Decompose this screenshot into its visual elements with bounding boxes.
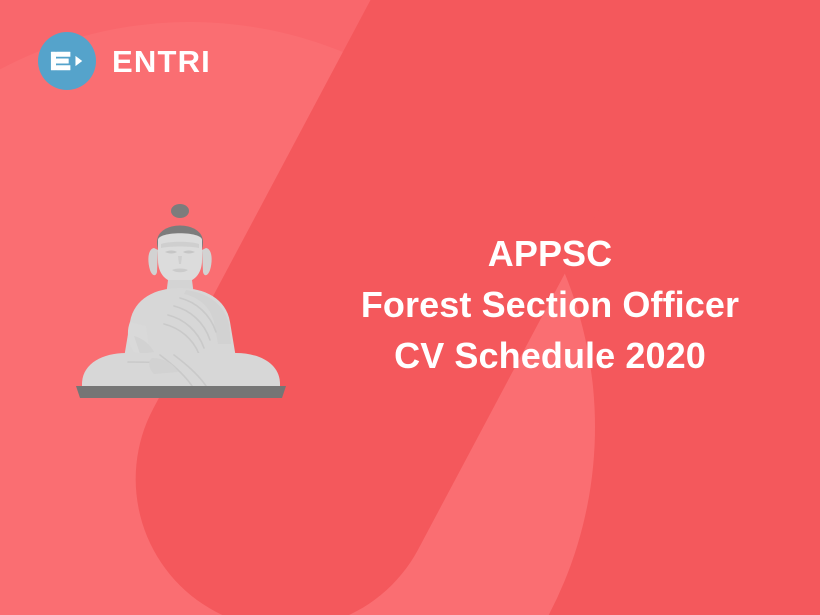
brand-name: ENTRI — [112, 46, 211, 77]
title-line-2: Forest Section Officer — [320, 279, 780, 330]
poster-canvas: ENTRI — [0, 0, 820, 615]
title-line-1: APPSC — [320, 228, 780, 279]
brand-logo: ENTRI — [38, 32, 211, 90]
page-title: APPSC Forest Section Officer CV Schedule… — [320, 228, 780, 381]
seated-buddha-statue-icon — [68, 198, 293, 398]
title-line-3: CV Schedule 2020 — [320, 330, 780, 381]
entri-e-arrow-icon — [38, 32, 96, 90]
